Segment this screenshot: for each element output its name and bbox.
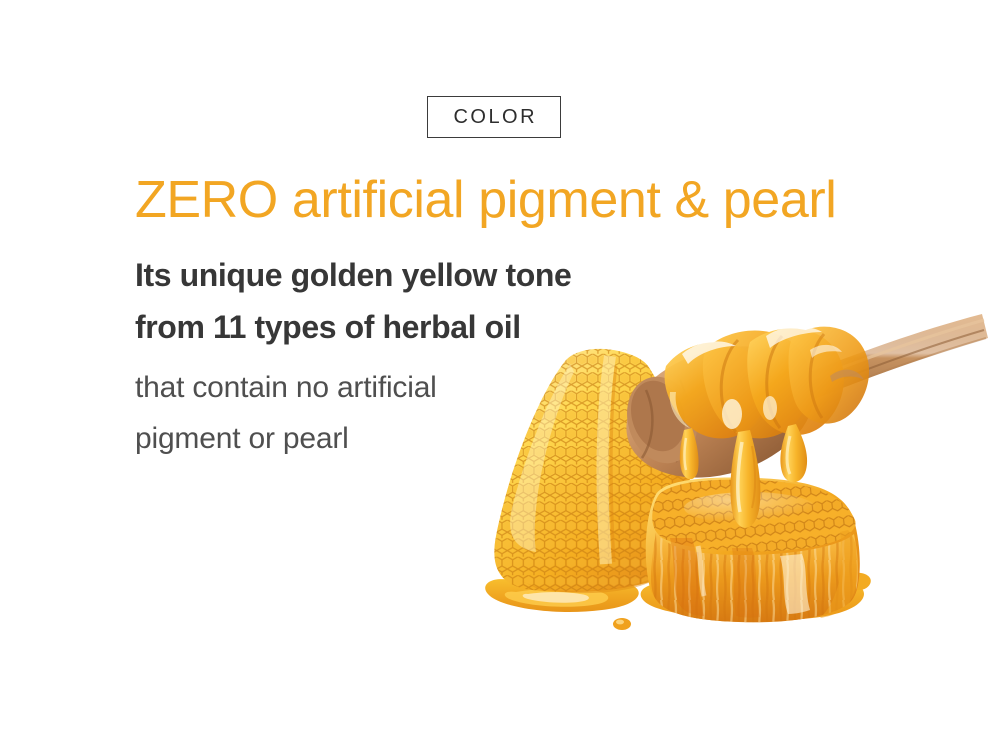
honey-drip-stray xyxy=(613,618,631,630)
color-feature-banner: COLOR ZERO artificial pigment & pearl It… xyxy=(0,0,990,747)
badge-label: COLOR xyxy=(451,107,537,127)
honeycomb-and-honey-dipper-image xyxy=(470,280,990,660)
headline: ZERO artificial pigment & pearl xyxy=(135,172,895,228)
color-section-badge: COLOR xyxy=(427,96,561,138)
